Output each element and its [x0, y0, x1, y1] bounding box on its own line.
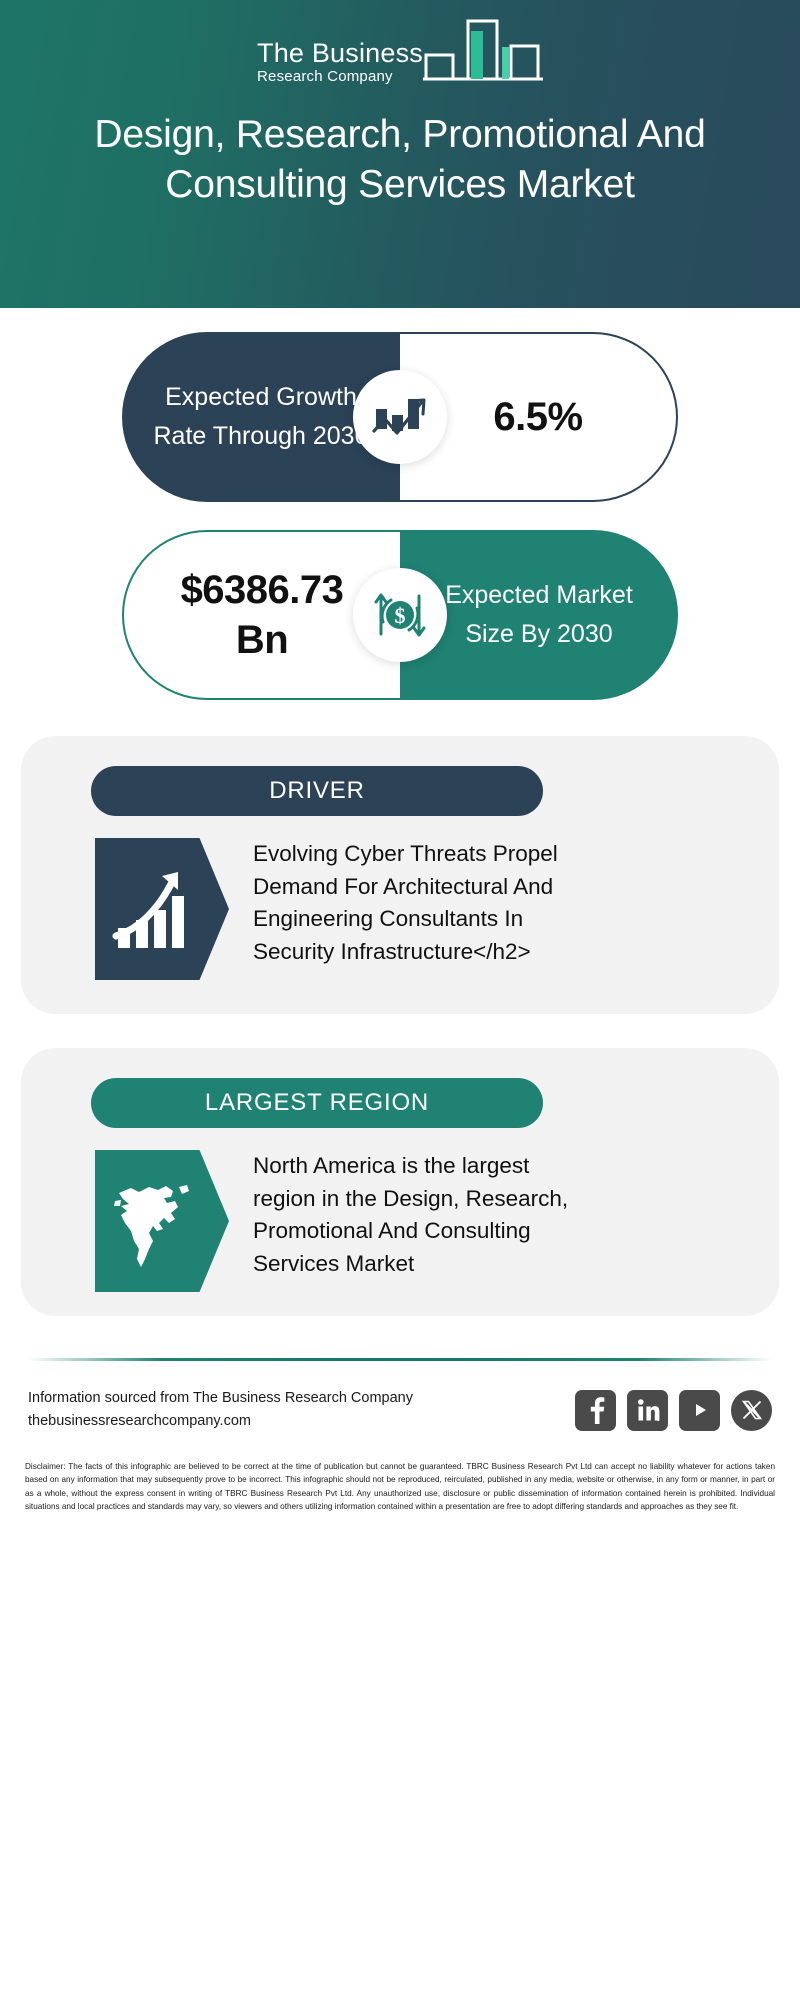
driver-pill-label: DRIVER — [269, 777, 364, 805]
dollar-cycle-icon: $ — [353, 568, 447, 662]
driver-body: Evolving Cyber Threats Propel Demand For… — [21, 838, 779, 980]
x-twitter-icon[interactable] — [731, 1390, 772, 1431]
linkedin-icon[interactable] — [627, 1390, 668, 1431]
logo-line-1: The Business — [257, 40, 423, 67]
stat-card-growth-rate: Expected Growth Rate Through 2030 6.5% — [122, 332, 678, 502]
social-links — [575, 1390, 772, 1431]
panel-largest-region: LARGEST REGION North America is the larg… — [21, 1048, 779, 1316]
growth-rate-value: 6.5% — [428, 392, 649, 442]
logo-wordmark: The Business Research Company — [257, 40, 423, 91]
source-line-1: Information sourced from The Business Re… — [28, 1387, 413, 1410]
largest-region-pill-label: LARGEST REGION — [205, 1089, 429, 1117]
svg-text:$: $ — [395, 603, 406, 628]
bar-chart-logo-mark — [423, 17, 543, 88]
footer-divider — [28, 1358, 772, 1361]
facebook-icon[interactable] — [575, 1390, 616, 1431]
panel-driver: DRIVER Evolving Cyber Threats Propel Dem… — [21, 736, 779, 1014]
footer-row: Information sourced from The Business Re… — [28, 1387, 772, 1434]
source-website[interactable]: thebusinessresearchcompany.com — [28, 1410, 413, 1433]
north-america-map-icon — [95, 1150, 229, 1292]
company-logo: The Business Research Company — [257, 18, 543, 90]
growth-chart-arrow-icon — [353, 370, 447, 464]
largest-region-body: North America is the largest region in t… — [21, 1150, 779, 1292]
largest-region-text: North America is the largest region in t… — [253, 1150, 583, 1281]
disclaimer-text: Disclaimer: The facts of this infographi… — [25, 1460, 775, 1513]
source-attribution: Information sourced from The Business Re… — [28, 1387, 413, 1434]
page-title: Design, Research, Promotional And Consul… — [70, 110, 730, 209]
growth-rate-label: Expected Growth Rate Through 2030 — [147, 378, 375, 456]
driver-pill: DRIVER — [91, 766, 543, 816]
largest-region-pill: LARGEST REGION — [91, 1078, 543, 1128]
logo-line-2: Research Company — [257, 67, 393, 87]
driver-text: Evolving Cyber Threats Propel Demand For… — [253, 838, 583, 969]
market-size-value: $6386.73 Bn — [152, 565, 373, 665]
market-size-label: Expected Market Size By 2030 — [425, 576, 653, 654]
stat-card-market-size: $6386.73 Bn Expected Market Size By 2030… — [122, 530, 678, 700]
rising-bar-chart-arrow-icon — [95, 838, 229, 980]
header-banner: The Business Research Company Design, Re… — [0, 0, 800, 308]
youtube-icon[interactable] — [679, 1390, 720, 1431]
